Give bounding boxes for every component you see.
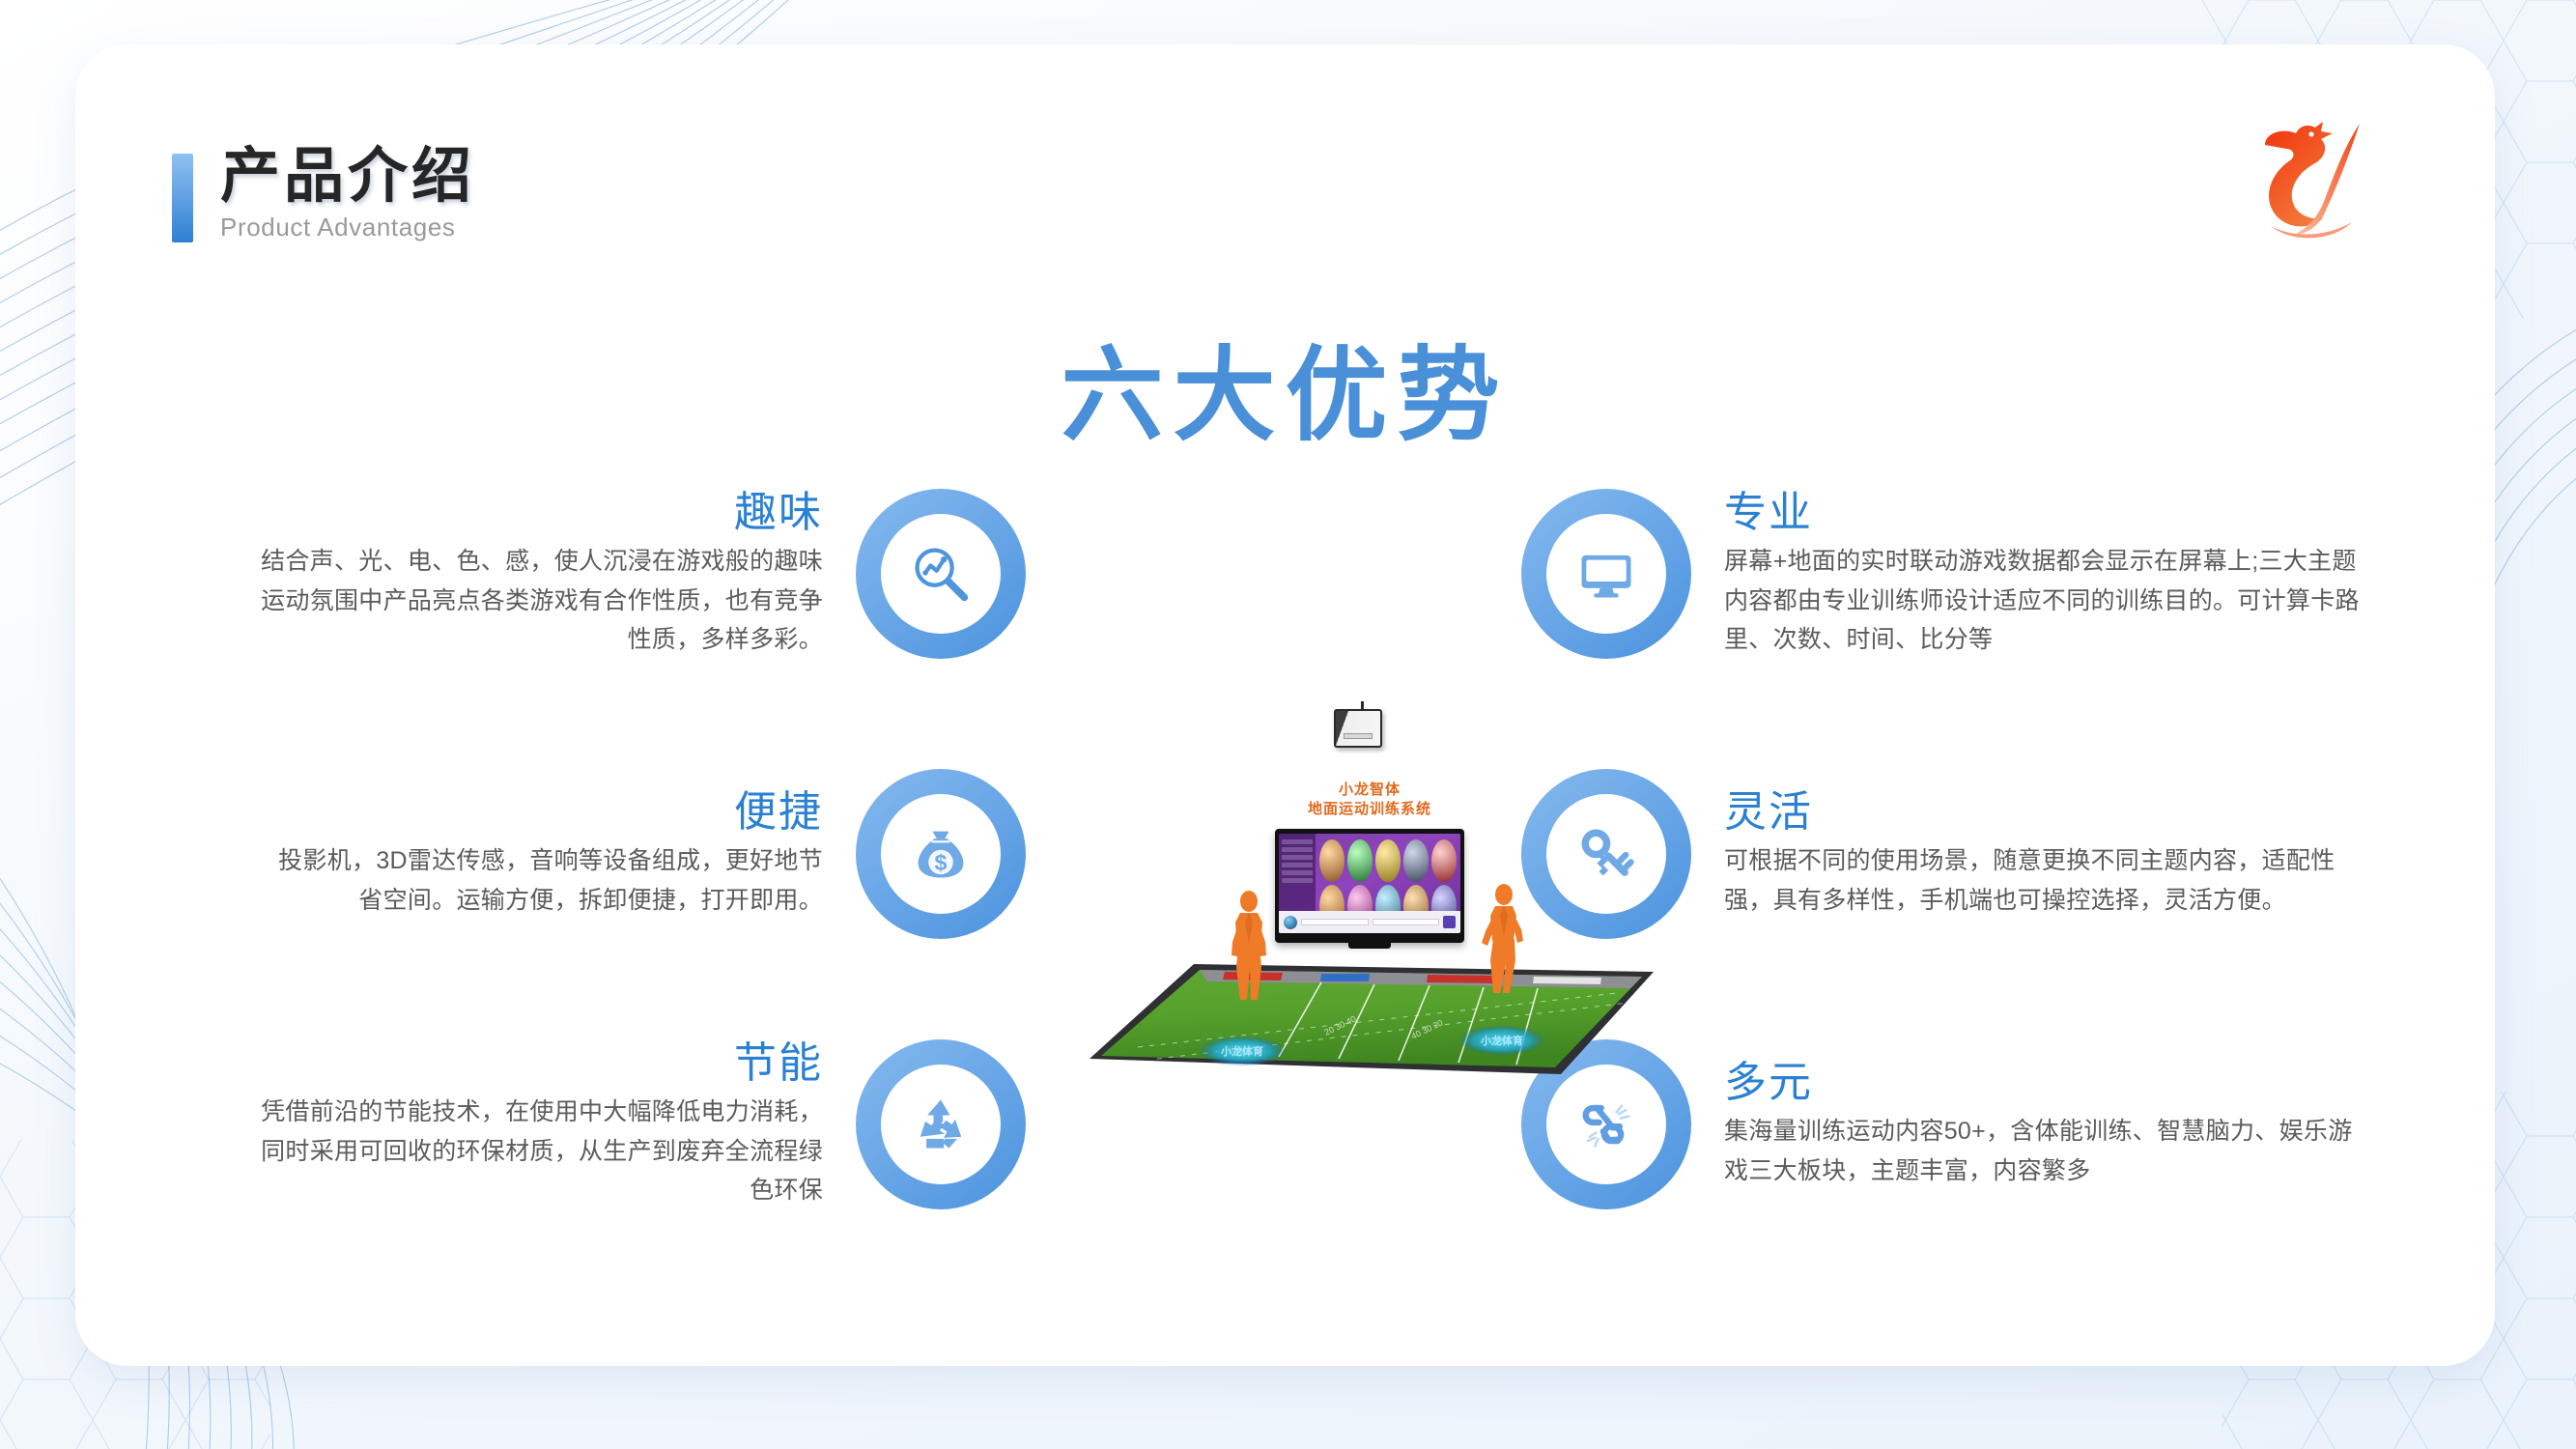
recycle-icon: [908, 1092, 974, 1157]
feature-description: 屏幕+地面的实时联动游戏数据都会显示在屏幕上;三大主题内容都由专业训练师设计适应…: [1724, 542, 2367, 660]
feature-description: 投影机，3D雷达传感，音响等设备组成，更好地节省空间。运输方便，拆卸便捷，打开即…: [257, 841, 823, 920]
broken-link-icon: [1573, 1092, 1639, 1157]
product-brand-caption: 小龙智体 地面运动训练系统: [1244, 781, 1495, 820]
page-subtitle: Product Advantages: [220, 213, 475, 242]
feature-title: 多元: [1724, 1059, 2367, 1106]
feature-description: 结合声、光、电、色、感，使人沉浸在游戏般的趣味运动氛围中产品亮点各类游戏有合作性…: [257, 542, 823, 660]
game-menu-screen: [1275, 829, 1464, 943]
feature-description: 凭借前沿的节能技术，在使用中大幅降低电力消耗，同时采用可回收的环保材质，从生产到…: [257, 1093, 823, 1210]
feature-description: 可根据不同的使用场景，随意更换不同主题内容，适配性强，具有多样性，手机端也可操控…: [1724, 841, 2367, 920]
dragon-logo: [2236, 104, 2381, 244]
monitor-icon: [1573, 541, 1639, 607]
feature-text: 便捷 投影机，3D雷达传感，音响等设备组成，更好地节省空间。运输方便，拆卸便捷，…: [257, 788, 856, 920]
feature-description: 集海量训练运动内容50+，含体能训练、智慧脑力、娱乐游戏三大板块，主题丰富，内容…: [1724, 1112, 2367, 1190]
search-chart-icon: [908, 541, 974, 607]
projector-device: [1326, 701, 1389, 752]
feature-icon-circle[interactable]: $: [856, 769, 1026, 939]
feature-icon-circle[interactable]: [856, 1039, 1026, 1209]
slide-card: 产品介绍 Product Advantages: [75, 44, 2495, 1366]
header: 产品介绍 Product Advantages: [172, 146, 475, 242]
feature-title: 节能: [257, 1039, 823, 1087]
feature-text: 节能 凭借前沿的节能技术，在使用中大幅降低电力消耗，同时采用可回收的环保材质，从…: [257, 1039, 856, 1210]
feature-block-bian-jie[interactable]: 便捷 投影机，3D雷达传感，音响等设备组成，更好地节省空间。运输方便，拆卸便捷，…: [257, 769, 1026, 939]
feature-text: 专业 屏幕+地面的实时联动游戏数据都会显示在屏幕上;三大主题内容都由专业训练师设…: [1691, 489, 2367, 660]
feature-block-qu-wei[interactable]: 趣味 结合声、光、电、色、感，使人沉浸在游戏般的趣味运动氛围中产品亮点各类游戏有…: [257, 489, 1026, 660]
player-figure-right: [1476, 883, 1528, 1010]
feature-text: 趣味 结合声、光、电、色、感，使人沉浸在游戏般的趣味运动氛围中产品亮点各类游戏有…: [257, 489, 856, 660]
feature-title: 灵活: [1724, 788, 2367, 836]
product-brand-line1: 小龙智体: [1244, 781, 1495, 800]
feature-text: 多元 集海量训练运动内容50+，含体能训练、智慧脑力、娱乐游戏三大板块，主题丰富…: [1691, 1059, 2367, 1190]
product-illustration: 小龙智体 地面运动训练系统: [1061, 624, 1679, 1010]
feature-title: 趣味: [257, 489, 823, 536]
feature-title: 便捷: [257, 788, 823, 836]
main-heading: 六大优势: [75, 312, 2495, 461]
header-accent-bar: [172, 154, 193, 242]
feature-block-jie-neng[interactable]: 节能 凭借前沿的节能技术，在使用中大幅降低电力消耗，同时采用可回收的环保材质，从…: [257, 1039, 1026, 1210]
money-bag-icon: $: [908, 821, 974, 887]
player-figure-left: [1223, 890, 1275, 1017]
svg-text:$: $: [935, 850, 948, 875]
svg-text:小龙体育: 小龙体育: [1220, 1044, 1263, 1058]
feature-title: 专业: [1724, 489, 2367, 536]
product-brand-line2: 地面运动训练系统: [1244, 800, 1495, 819]
svg-text:小龙体育: 小龙体育: [1480, 1034, 1523, 1047]
feature-icon-circle[interactable]: [856, 489, 1026, 659]
page-title: 产品介绍: [220, 146, 475, 207]
feature-text: 灵活 可根据不同的使用场景，随意更换不同主题内容，适配性强，具有多样性，手机端也…: [1691, 788, 2367, 920]
interactive-floor-mat: 20 30 40 40 30 20 小龙体育 小龙体育: [1080, 943, 1659, 1078]
